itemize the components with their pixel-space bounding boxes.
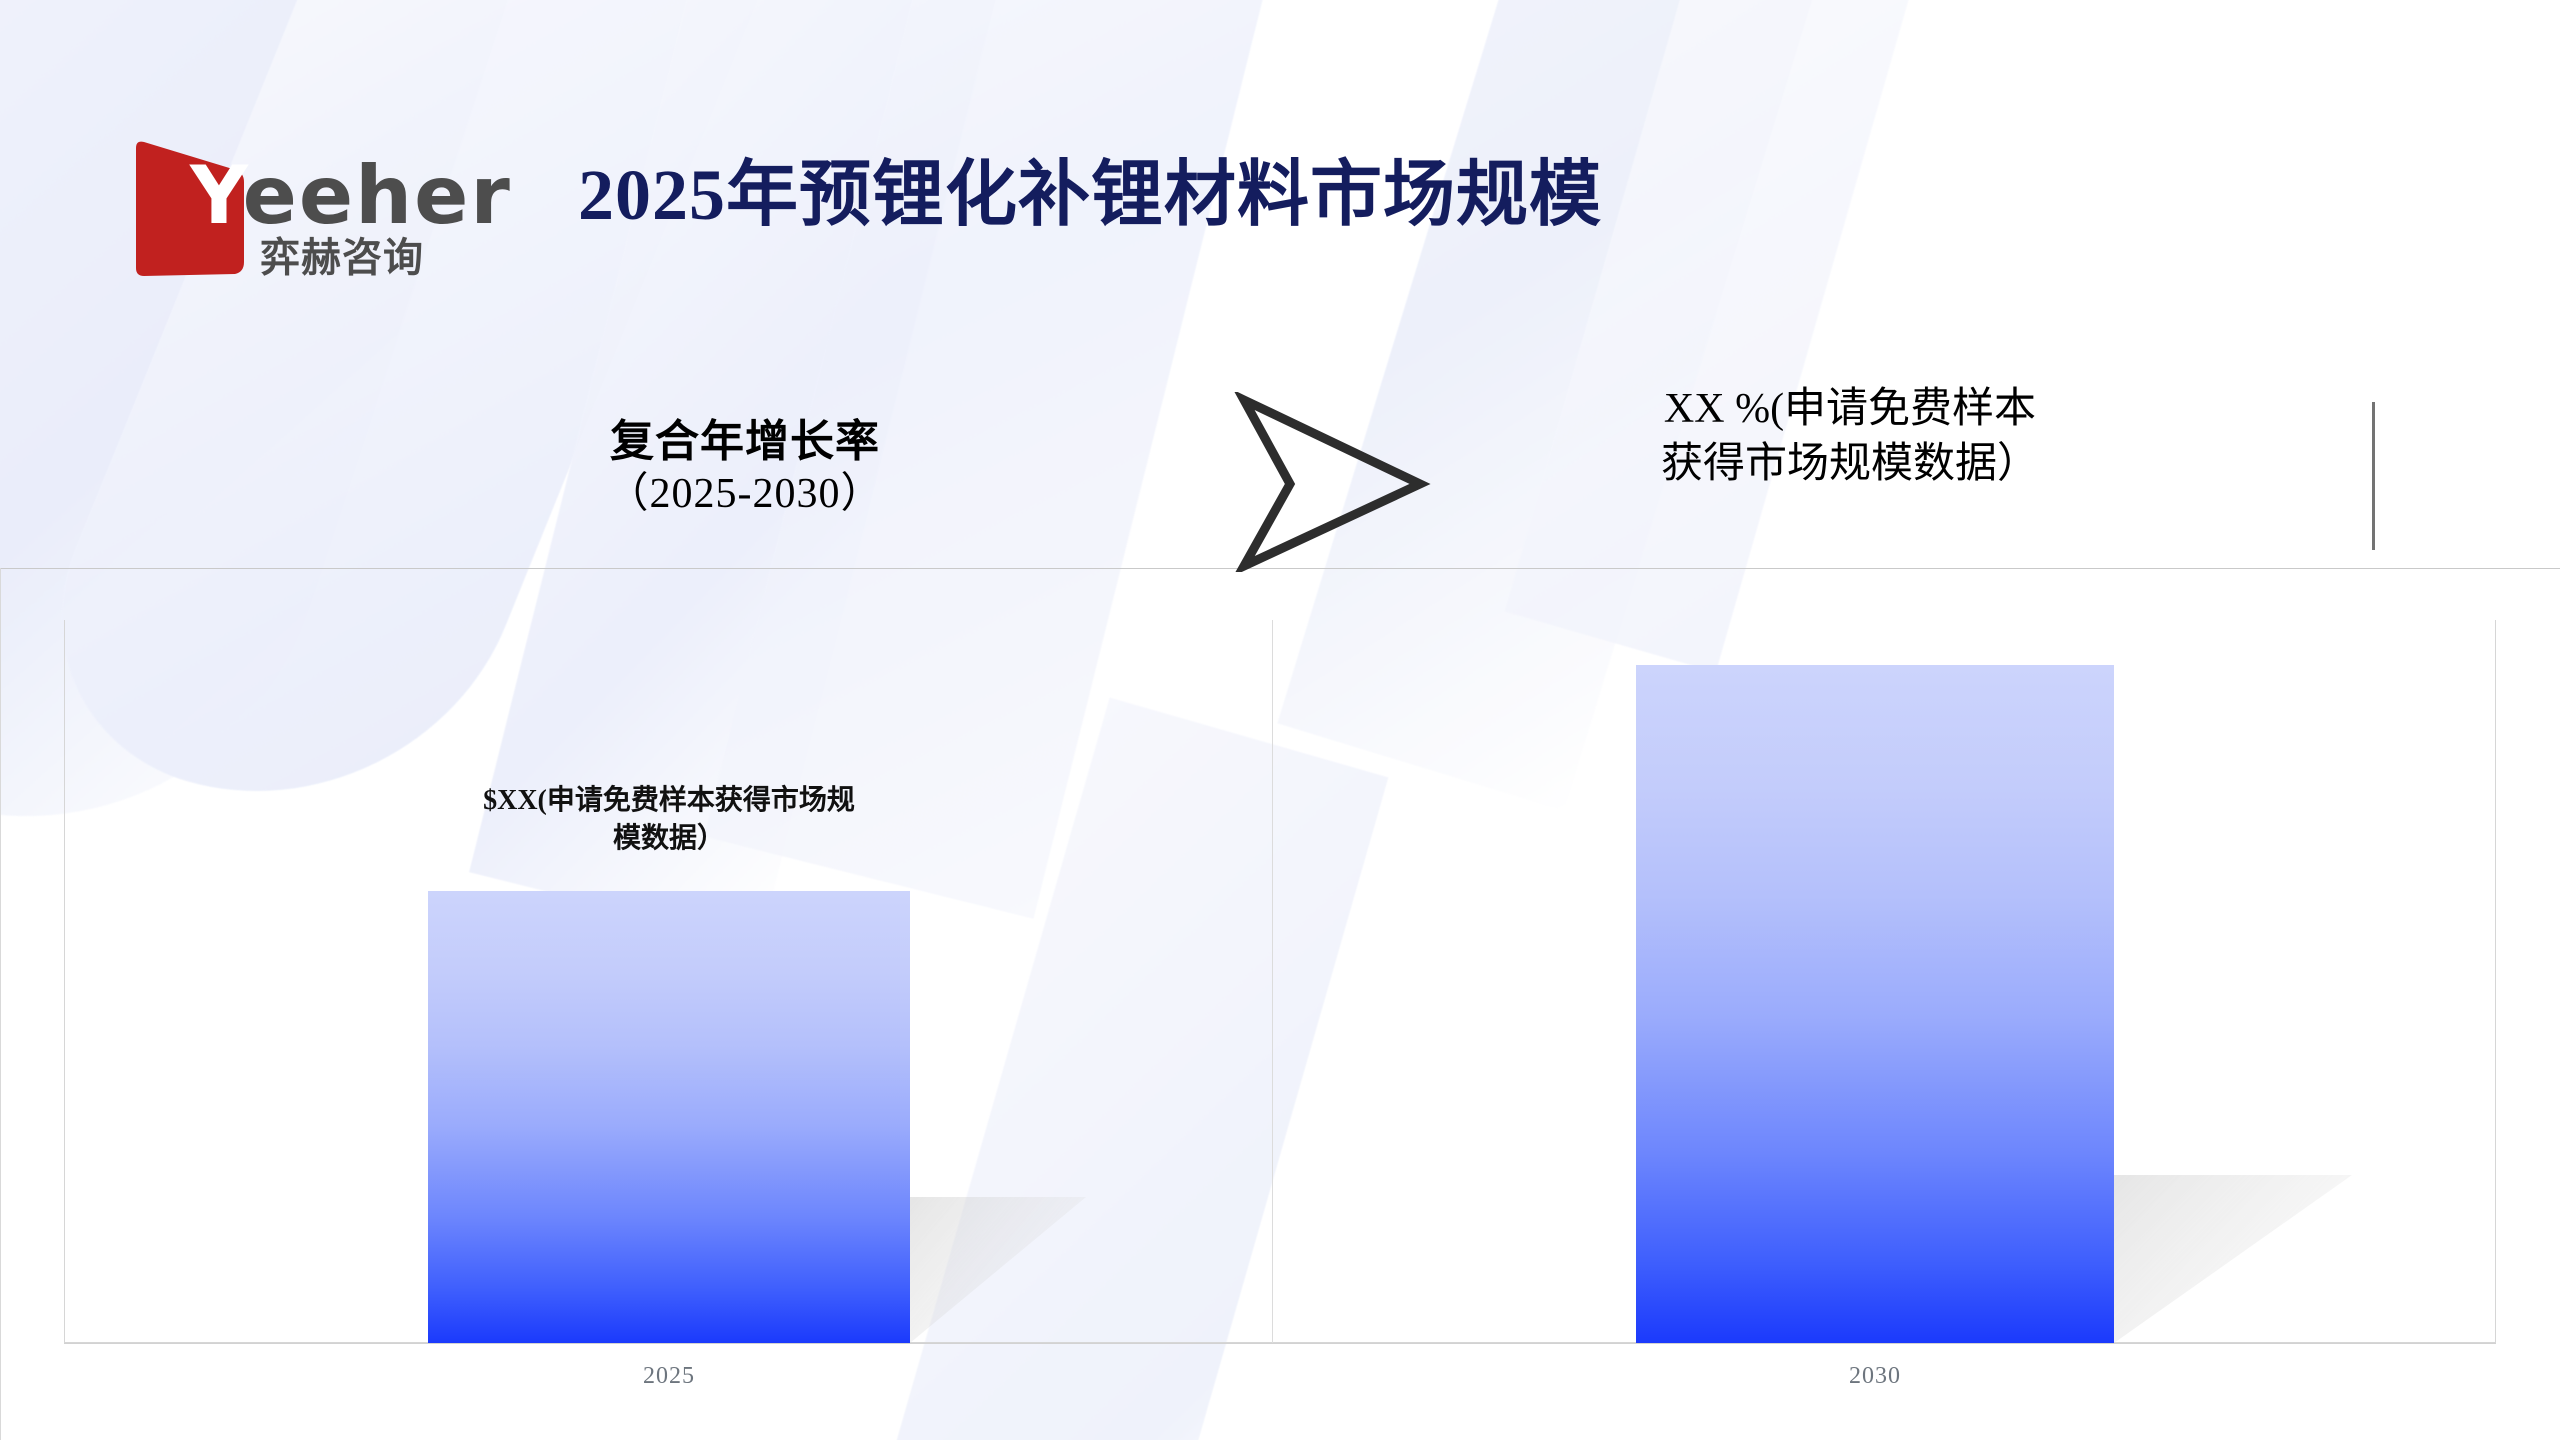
logo-subtitle: 弈赫咨询 bbox=[260, 238, 424, 278]
slide-canvas: Yeeher 弈赫咨询 2025年预锂化补锂材料市场规模 复合年增长率 （202… bbox=[0, 0, 2560, 1440]
axis-tick-2030: 2030 bbox=[1775, 1363, 1975, 1390]
cagr-range: （2025-2030） bbox=[545, 469, 945, 520]
axis-tick-2025: 2025 bbox=[569, 1363, 769, 1390]
cagr-block: 复合年增长率 （2025-2030） bbox=[545, 415, 945, 520]
cagr-value-note-line2: 获得市场规模数据） bbox=[1600, 437, 2100, 492]
right-vertical-divider bbox=[2372, 402, 2375, 550]
bar-label-2025-line1: $XX(申请免费样本获得市场规 bbox=[440, 782, 898, 820]
left-edge-rule bbox=[0, 568, 1, 1440]
chart-baseline bbox=[64, 1343, 2496, 1344]
bar-label-2025-line2: 模数据） bbox=[440, 820, 898, 858]
chart-panel-divider bbox=[1272, 620, 1273, 1343]
cagr-value-note-line1: XX %(申请免费样本 bbox=[1600, 382, 2100, 437]
arrow-right-icon bbox=[1232, 392, 1432, 572]
background-ribbon-6 bbox=[1504, 0, 2115, 672]
bar-2025[interactable] bbox=[428, 891, 910, 1343]
cagr-title: 复合年增长率 bbox=[545, 415, 945, 469]
logo-wordmark: Yeeher bbox=[190, 156, 512, 236]
page-title: 2025年预锂化补锂材料市场规模 bbox=[578, 135, 1602, 240]
bar-label-2025: $XX(申请免费样本获得市场规 模数据） bbox=[440, 782, 898, 858]
bar-2030[interactable] bbox=[1636, 665, 2114, 1343]
logo-initial: Y bbox=[190, 149, 243, 242]
company-logo: Yeeher 弈赫咨询 bbox=[128, 118, 468, 308]
logo-wordmark-rest: eeher bbox=[243, 149, 512, 242]
cagr-value-note: XX %(申请免费样本 获得市场规模数据） bbox=[1600, 382, 2100, 493]
